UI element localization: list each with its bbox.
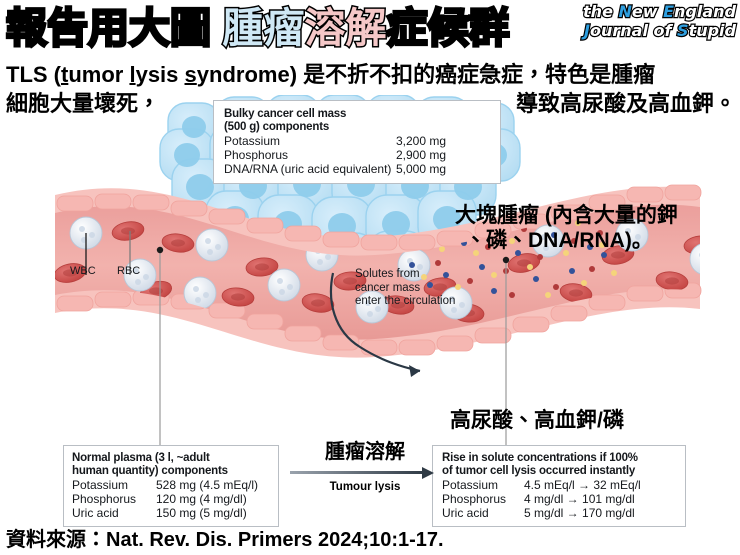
tumor-box-title-line1: Bulky cancer cell mass: [224, 108, 491, 121]
journal-logo-segment: N: [619, 2, 632, 21]
tumor-row-value: 5,000 mg: [396, 162, 491, 176]
plasma-box-title-line1: Normal plasma (3 l, ~adult: [72, 452, 271, 465]
rise-box-table: Potassium 4.5 mEq/l → 32 mEq/l Phosphoru…: [442, 478, 678, 520]
journal-logo-segment: E: [663, 2, 674, 21]
page-title-segment: 症候群: [386, 5, 509, 51]
rise-row-name: Uric acid: [442, 506, 524, 520]
journal-logo-segment: ngland: [674, 2, 736, 21]
table-row: Potassium 4.5 mEq/l → 32 mEq/l: [442, 478, 678, 492]
label-hyperuricemia-cjk: 高尿酸、高血鉀/磷: [450, 408, 624, 433]
rise-box-title-line1: Rise in solute concentrations if 100%: [442, 452, 678, 465]
plasma-row-name: Uric acid: [72, 506, 156, 520]
label-rbc: RBC: [117, 265, 140, 279]
label-solutes-line1: Solutes from: [355, 268, 455, 282]
plasma-row-name: Potassium: [72, 478, 156, 492]
tumour-lysis-transition: 腫瘤溶解 Tumour lysis: [290, 440, 440, 493]
bulky-cancer-cell-mass-box: Bulky cancer cell mass (500 g) component…: [213, 100, 501, 184]
arrow-shaft: [290, 471, 424, 474]
tumor-row-value: 2,900 mg: [396, 148, 491, 162]
table-row: Phosphorus 120 mg (4 mg/dl): [72, 492, 271, 506]
tumor-row-name: Potassium: [224, 134, 396, 148]
table-row: Potassium 528 mg (4.5 mEq/l): [72, 478, 271, 492]
subtitle-segment: yndrome: [197, 62, 290, 87]
rise-row-name: Phosphorus: [442, 492, 524, 506]
tumour-lysis-label-cjk: 腫瘤溶解: [290, 440, 440, 464]
label-bulk-tumor-cjk: 大塊腫瘤 (內含大量的鉀 、磷、DNA/RNA)。: [455, 203, 678, 253]
tumor-row-name: DNA/RNA (uric acid equivalent): [224, 162, 396, 176]
plasma-row-name: Phosphorus: [72, 492, 156, 506]
tumor-row-value: 3,200 mg: [396, 134, 491, 148]
normal-plasma-box: Normal plasma (3 l, ~adult human quantit…: [63, 445, 279, 527]
plasma-row-value: 120 mg (4 mg/dl): [156, 492, 271, 506]
subtitle-segment: ysis: [136, 62, 185, 87]
journal-logo-segment: the: [583, 2, 618, 21]
rise-box-title: Rise in solute concentrations if 100% of…: [442, 452, 678, 478]
journal-logo-segment: S: [677, 21, 689, 40]
tumor-box-title: Bulky cancer cell mass (500 g) component…: [224, 108, 491, 134]
rise-box-title-line2: of tumor cell lysis occurred instantly: [442, 465, 678, 478]
subtitle-segment: umor: [68, 62, 129, 87]
journal-logo-segment: tupid: [689, 21, 736, 40]
source-citation: 資料來源：Nat. Rev. Dis. Primers 2024;10:1-17…: [6, 523, 444, 552]
table-row: Phosphorus 4 mg/dl → 101 mg/dl: [442, 492, 678, 506]
label-bulk-tumor-line1: 大塊腫瘤 (內含大量的鉀: [455, 204, 678, 227]
rise-row-value: 4 mg/dl → 101 mg/dl: [524, 492, 678, 506]
arrow-head: [422, 467, 434, 479]
page-title-segment: 報告用大圖: [6, 5, 222, 51]
tumour-lysis-label-en: Tumour lysis: [290, 481, 440, 493]
tumor-row-name: Phosphorus: [224, 148, 396, 162]
infographic-page: 報告用大圖 腫瘤溶解症候群 the New England Journal of…: [0, 0, 740, 555]
rise-row-name: Potassium: [442, 478, 524, 492]
label-solutes-line2: cancer mass: [355, 282, 455, 296]
journal-logo-segment: ew: [632, 2, 663, 21]
subtitle-segment: s: [185, 62, 197, 87]
table-row: Phosphorus 2,900 mg: [224, 148, 491, 162]
right-arrow-icon: [290, 467, 440, 479]
subtitle-segment: ) 是不折不扣的癌症急症，特色是腫瘤: [290, 62, 655, 87]
plasma-box-title-line2: human quantity) components: [72, 465, 271, 478]
page-title-segment: 腫瘤: [222, 5, 304, 51]
page-title-segment: 溶解: [304, 5, 386, 51]
plasma-box-title: Normal plasma (3 l, ~adult human quantit…: [72, 452, 271, 478]
table-row: Uric acid 150 mg (5 mg/dl): [72, 506, 271, 520]
plasma-row-value: 150 mg (5 mg/dl): [156, 506, 271, 520]
journal-logo: the New England Journal of Stupid: [568, 2, 736, 40]
rise-row-value: 5 mg/dl → 170 mg/dl: [524, 506, 678, 520]
table-row: Potassium 3,200 mg: [224, 134, 491, 148]
subtitle-line-1: TLS (tumor lysis syndrome) 是不折不扣的癌症急症，特色…: [6, 62, 655, 88]
journal-logo-segment: ournal of: [590, 21, 677, 40]
label-solutes-line3: enter the circulation: [355, 295, 455, 309]
tumor-box-table: Potassium 3,200 mg Phosphorus 2,900 mg D…: [224, 134, 491, 176]
journal-logo-line2: Journal of Stupid: [568, 21, 736, 40]
page-title: 報告用大圖 腫瘤溶解症候群: [6, 2, 586, 54]
plasma-row-value: 528 mg (4.5 mEq/l): [156, 478, 271, 492]
label-wbc: WBC: [70, 265, 96, 279]
rise-row-value: 4.5 mEq/l → 32 mEq/l: [524, 478, 678, 492]
plasma-box-table: Potassium 528 mg (4.5 mEq/l) Phosphorus …: [72, 478, 271, 520]
tumor-box-title-line2: (500 g) components: [224, 121, 491, 134]
label-solutes-enter-circulation: Solutes from cancer mass enter the circu…: [355, 268, 455, 309]
journal-logo-line1: the New England: [568, 2, 736, 21]
table-row: DNA/RNA (uric acid equivalent) 5,000 mg: [224, 162, 491, 176]
label-bulk-tumor-line2: 、磷、DNA/RNA)。: [455, 228, 678, 253]
rise-in-solute-concentrations-box: Rise in solute concentrations if 100% of…: [432, 445, 686, 527]
subtitle-segment: TLS (: [6, 62, 61, 87]
table-row: Uric acid 5 mg/dl → 170 mg/dl: [442, 506, 678, 520]
